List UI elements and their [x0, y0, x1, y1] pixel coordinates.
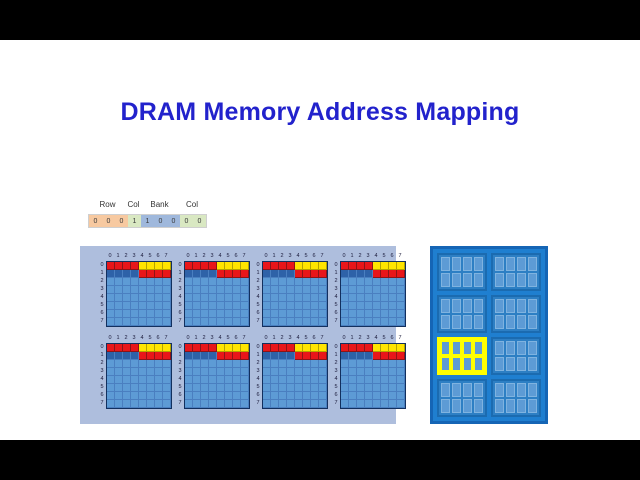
dram-cell	[147, 294, 155, 302]
dram-cell	[373, 318, 381, 326]
dram-cell	[295, 392, 303, 400]
dram-cell	[233, 376, 241, 384]
dram-cell	[319, 376, 327, 384]
dram-column-header: 1	[114, 334, 122, 343]
bank-sub-cell	[463, 341, 472, 355]
bank-block	[491, 337, 541, 375]
dram-cell	[381, 286, 389, 294]
dram-cell	[147, 360, 155, 368]
dram-column-headers: 01234567	[106, 252, 170, 261]
dram-column-header: 5	[224, 252, 232, 261]
dram-cell	[389, 360, 397, 368]
dram-cell	[201, 278, 209, 286]
dram-cell	[225, 262, 233, 270]
bank-sub-cell	[441, 273, 450, 287]
dram-cell	[131, 384, 139, 392]
dram-cell	[131, 278, 139, 286]
dram-cell	[139, 270, 147, 278]
dram-cell	[115, 376, 123, 384]
dram-cell	[381, 376, 389, 384]
dram-cell	[373, 368, 381, 376]
dram-cell	[397, 270, 405, 278]
bank-sub-cell	[528, 315, 537, 329]
dram-cell	[225, 400, 233, 408]
dram-column-header: 3	[130, 252, 138, 261]
dram-row-header: 3	[176, 367, 184, 375]
dram-cell	[115, 368, 123, 376]
dram-cell	[115, 286, 123, 294]
dram-cell	[193, 376, 201, 384]
dram-cell	[163, 270, 171, 278]
bank-sub-cell	[463, 315, 472, 329]
dram-row-header: 2	[254, 359, 262, 367]
dram-cell	[271, 384, 279, 392]
bank-sub-cell	[528, 399, 537, 413]
dram-cell	[295, 318, 303, 326]
dram-cell	[233, 400, 241, 408]
dram-cell	[287, 344, 295, 352]
dram-cell	[271, 344, 279, 352]
dram-cell	[357, 318, 365, 326]
dram-row-header: 2	[332, 277, 340, 285]
dram-cell	[279, 278, 287, 286]
dram-cell	[279, 262, 287, 270]
dram-cell	[233, 318, 241, 326]
dram-cell	[201, 286, 209, 294]
dram-column-header: 4	[216, 252, 224, 261]
dram-cell-matrix	[340, 261, 406, 327]
dram-cell	[147, 344, 155, 352]
dram-cell	[397, 360, 405, 368]
dram-cell	[193, 344, 201, 352]
dram-cell	[201, 384, 209, 392]
dram-cell	[295, 302, 303, 310]
dram-cell	[303, 286, 311, 294]
dram-cell	[365, 368, 373, 376]
dram-cell	[303, 400, 311, 408]
dram-column-header: 7	[396, 334, 404, 343]
dram-row-header: 7	[332, 317, 340, 325]
dram-cell	[131, 302, 139, 310]
dram-cell	[319, 368, 327, 376]
dram-cell	[349, 352, 357, 360]
dram-cell	[193, 352, 201, 360]
dram-row-header: 1	[176, 269, 184, 277]
dram-cell	[131, 262, 139, 270]
dram-column-header: 4	[138, 252, 146, 261]
dram-cell	[263, 310, 271, 318]
dram-cell	[287, 310, 295, 318]
dram-cell	[373, 352, 381, 360]
slide-canvas: DRAM Memory Address Mapping RowColBankCo…	[0, 40, 640, 440]
dram-column-header: 6	[388, 252, 396, 261]
dram-cell	[209, 360, 217, 368]
dram-row-header: 0	[332, 343, 340, 351]
dram-cell	[311, 400, 319, 408]
dram-cell-matrix	[184, 261, 250, 327]
dram-cell	[263, 384, 271, 392]
dram-column-header: 7	[162, 334, 170, 343]
dram-cell	[201, 310, 209, 318]
dram-cell	[155, 352, 163, 360]
dram-row-header: 3	[98, 367, 106, 375]
dram-cell	[115, 294, 123, 302]
bank-sub-cell	[506, 341, 515, 355]
dram-column-header: 5	[302, 334, 310, 343]
dram-cell	[107, 318, 115, 326]
dram-cell	[123, 302, 131, 310]
dram-cell	[225, 270, 233, 278]
dram-row-header: 6	[176, 391, 184, 399]
dram-cell	[225, 318, 233, 326]
dram-cell	[185, 318, 193, 326]
dram-cell	[303, 278, 311, 286]
dram-column-header: 2	[200, 252, 208, 261]
dram-cell	[357, 352, 365, 360]
dram-cell	[115, 302, 123, 310]
dram-cell	[139, 376, 147, 384]
dram-cell	[341, 278, 349, 286]
dram-column-headers: 01234567	[184, 334, 248, 343]
dram-cell	[287, 384, 295, 392]
address-bit: 0	[115, 215, 128, 227]
bank-sub-cell	[495, 257, 504, 271]
dram-cell	[311, 262, 319, 270]
dram-cell	[365, 302, 373, 310]
dram-cell	[209, 376, 217, 384]
dram-column-header: 4	[294, 252, 302, 261]
dram-cell	[193, 286, 201, 294]
dram-cell	[123, 286, 131, 294]
dram-cell	[209, 384, 217, 392]
dram-column-header: 2	[278, 252, 286, 261]
dram-row-header: 0	[98, 261, 106, 269]
dram-cell	[287, 392, 295, 400]
dram-cell	[185, 344, 193, 352]
dram-cell	[107, 278, 115, 286]
dram-column-header: 6	[154, 334, 162, 343]
dram-cell	[303, 392, 311, 400]
dram-cell	[115, 262, 123, 270]
dram-cell	[349, 400, 357, 408]
dram-cell	[303, 318, 311, 326]
dram-cell	[139, 344, 147, 352]
dram-column-header: 1	[270, 252, 278, 261]
dram-cell	[217, 278, 225, 286]
dram-array-panel: 0123456701234567012345670123456701234567…	[80, 246, 396, 424]
bank-sub-cell	[452, 399, 461, 413]
dram-cell	[193, 294, 201, 302]
dram-cell	[397, 286, 405, 294]
bank-sub-cell	[495, 341, 504, 355]
dram-column-header: 2	[122, 334, 130, 343]
bank-block	[491, 295, 541, 333]
dram-cell	[209, 294, 217, 302]
dram-grid: 0123456701234567	[332, 252, 404, 332]
dram-cell	[295, 384, 303, 392]
bank-sub-cell	[528, 273, 537, 287]
dram-row-header: 0	[332, 261, 340, 269]
dram-cell	[287, 360, 295, 368]
bank-sub-cell	[495, 315, 504, 329]
dram-cell	[115, 360, 123, 368]
dram-cell	[357, 270, 365, 278]
dram-column-header: 4	[138, 334, 146, 343]
dram-cell	[373, 392, 381, 400]
bank-sub-cell	[474, 383, 483, 397]
dram-cell	[209, 400, 217, 408]
dram-cell	[263, 278, 271, 286]
dram-cell	[349, 344, 357, 352]
bank-sub-cell	[495, 273, 504, 287]
dram-row-headers: 01234567	[176, 343, 184, 407]
dram-cell	[365, 294, 373, 302]
dram-cell	[365, 278, 373, 286]
dram-cell	[295, 352, 303, 360]
bank-sub-cell	[495, 399, 504, 413]
dram-cell	[241, 318, 249, 326]
dram-cell	[311, 294, 319, 302]
dram-cell	[115, 384, 123, 392]
dram-cell	[341, 376, 349, 384]
address-segment-label-row-0: Row	[94, 200, 122, 209]
bank-sub-cell	[441, 341, 450, 355]
dram-column-header: 6	[310, 252, 318, 261]
dram-cell	[233, 352, 241, 360]
dram-cell	[271, 318, 279, 326]
dram-cell	[131, 376, 139, 384]
dram-cell	[341, 344, 349, 352]
dram-cell	[295, 310, 303, 318]
dram-cell	[295, 278, 303, 286]
dram-row-header: 5	[254, 383, 262, 391]
dram-cell	[349, 262, 357, 270]
dram-cell	[193, 392, 201, 400]
dram-cell	[311, 318, 319, 326]
dram-column-header: 7	[240, 252, 248, 261]
dram-cell	[373, 278, 381, 286]
dram-cell	[123, 400, 131, 408]
dram-row-header: 1	[254, 351, 262, 359]
dram-cell	[271, 310, 279, 318]
dram-row-header: 7	[176, 399, 184, 407]
dram-cell	[365, 384, 373, 392]
dram-cell	[241, 400, 249, 408]
dram-cell	[279, 302, 287, 310]
address-bit: 0	[193, 215, 206, 227]
dram-row-header: 6	[176, 309, 184, 317]
dram-cell	[123, 294, 131, 302]
dram-column-header: 5	[380, 252, 388, 261]
dram-cell	[373, 384, 381, 392]
dram-cell	[341, 392, 349, 400]
dram-cell	[303, 262, 311, 270]
dram-column-header: 6	[232, 334, 240, 343]
dram-cell	[349, 392, 357, 400]
dram-cell	[193, 368, 201, 376]
dram-cell	[217, 344, 225, 352]
dram-cell	[123, 376, 131, 384]
dram-cell	[233, 344, 241, 352]
dram-cell-matrix	[340, 343, 406, 409]
dram-cell	[155, 384, 163, 392]
dram-cell	[107, 392, 115, 400]
dram-cell	[233, 262, 241, 270]
dram-cell	[139, 294, 147, 302]
dram-column-header: 2	[278, 334, 286, 343]
dram-cell	[185, 270, 193, 278]
dram-cell	[155, 294, 163, 302]
dram-cell	[193, 262, 201, 270]
dram-row-header: 3	[176, 285, 184, 293]
dram-cell	[271, 400, 279, 408]
dram-cell	[147, 384, 155, 392]
dram-cell	[123, 262, 131, 270]
dram-cell	[147, 392, 155, 400]
dram-cell	[217, 368, 225, 376]
dram-cell	[349, 368, 357, 376]
dram-cell	[271, 262, 279, 270]
dram-cell	[263, 352, 271, 360]
dram-cell	[193, 360, 201, 368]
dram-cell	[123, 368, 131, 376]
dram-column-header: 3	[364, 334, 372, 343]
dram-cell	[147, 262, 155, 270]
dram-row-header: 3	[254, 367, 262, 375]
dram-cell	[271, 294, 279, 302]
dram-cell	[389, 400, 397, 408]
dram-cell	[263, 270, 271, 278]
dram-row-header: 5	[332, 383, 340, 391]
dram-cell	[311, 384, 319, 392]
dram-cell	[201, 302, 209, 310]
dram-cell	[287, 400, 295, 408]
dram-cell	[319, 392, 327, 400]
address-bit: 0	[89, 215, 102, 227]
dram-cell	[115, 400, 123, 408]
bank-sub-cell	[528, 357, 537, 371]
dram-cell	[201, 400, 209, 408]
dram-cell	[107, 376, 115, 384]
dram-cell	[319, 278, 327, 286]
dram-cell	[225, 368, 233, 376]
dram-cell	[241, 302, 249, 310]
dram-cell	[107, 270, 115, 278]
dram-cell	[271, 352, 279, 360]
dram-cell	[349, 318, 357, 326]
dram-column-header: 3	[208, 252, 216, 261]
dram-column-header: 0	[184, 334, 192, 343]
dram-row-header: 4	[254, 293, 262, 301]
dram-cell	[107, 352, 115, 360]
dram-cell	[225, 384, 233, 392]
dram-cell	[233, 384, 241, 392]
dram-cell	[373, 310, 381, 318]
dram-cell	[209, 286, 217, 294]
dram-cell	[341, 352, 349, 360]
dram-cell	[319, 286, 327, 294]
dram-cell	[163, 294, 171, 302]
dram-cell-matrix	[262, 261, 328, 327]
dram-cell	[163, 344, 171, 352]
dram-cell	[209, 310, 217, 318]
dram-row-header: 4	[176, 293, 184, 301]
dram-cell	[107, 384, 115, 392]
dram-cell	[287, 262, 295, 270]
dram-cell	[115, 318, 123, 326]
dram-column-header: 7	[240, 334, 248, 343]
dram-cell	[311, 286, 319, 294]
dram-cell	[241, 294, 249, 302]
dram-cell	[319, 270, 327, 278]
bank-sub-cell	[474, 357, 483, 371]
dram-cell	[123, 270, 131, 278]
dram-cell	[287, 286, 295, 294]
bank-sub-cell	[452, 299, 461, 313]
dram-cell	[163, 318, 171, 326]
dram-cell	[397, 392, 405, 400]
bank-sub-cell	[474, 341, 483, 355]
dram-cell	[349, 384, 357, 392]
dram-cell	[365, 310, 373, 318]
dram-column-header: 0	[340, 334, 348, 343]
dram-cell	[389, 392, 397, 400]
dram-cell	[163, 392, 171, 400]
bank-sub-cell	[517, 315, 526, 329]
dram-cell	[341, 294, 349, 302]
bank-sub-cell	[528, 257, 537, 271]
dram-cell	[225, 392, 233, 400]
dram-column-header: 3	[208, 334, 216, 343]
dram-cell	[357, 278, 365, 286]
dram-cell	[131, 270, 139, 278]
dram-cell	[271, 368, 279, 376]
dram-row-header: 7	[98, 399, 106, 407]
dram-cell	[389, 376, 397, 384]
dram-cell	[131, 310, 139, 318]
dram-cell	[233, 286, 241, 294]
dram-cell	[341, 384, 349, 392]
address-bit: 0	[180, 215, 193, 227]
dram-cell	[201, 360, 209, 368]
dram-cell	[107, 310, 115, 318]
dram-grid: 0123456701234567	[176, 252, 248, 332]
dram-row-header: 0	[176, 343, 184, 351]
dram-cell	[373, 344, 381, 352]
dram-cell	[225, 310, 233, 318]
dram-row-header: 7	[98, 317, 106, 325]
dram-cell	[295, 294, 303, 302]
dram-cell	[107, 302, 115, 310]
dram-row-header: 3	[254, 285, 262, 293]
dram-cell	[185, 278, 193, 286]
dram-cell	[185, 294, 193, 302]
dram-cell	[193, 302, 201, 310]
dram-cell	[163, 278, 171, 286]
bank-sub-cell	[517, 399, 526, 413]
dram-cell	[365, 392, 373, 400]
dram-cell	[155, 270, 163, 278]
dram-cell	[209, 262, 217, 270]
dram-cell	[381, 344, 389, 352]
bank-sub-cell	[463, 299, 472, 313]
dram-grid: 0123456701234567	[176, 334, 248, 414]
address-bit: 1	[141, 215, 154, 227]
dram-cell	[303, 310, 311, 318]
dram-cell	[381, 392, 389, 400]
dram-cell	[279, 376, 287, 384]
dram-cell	[217, 302, 225, 310]
